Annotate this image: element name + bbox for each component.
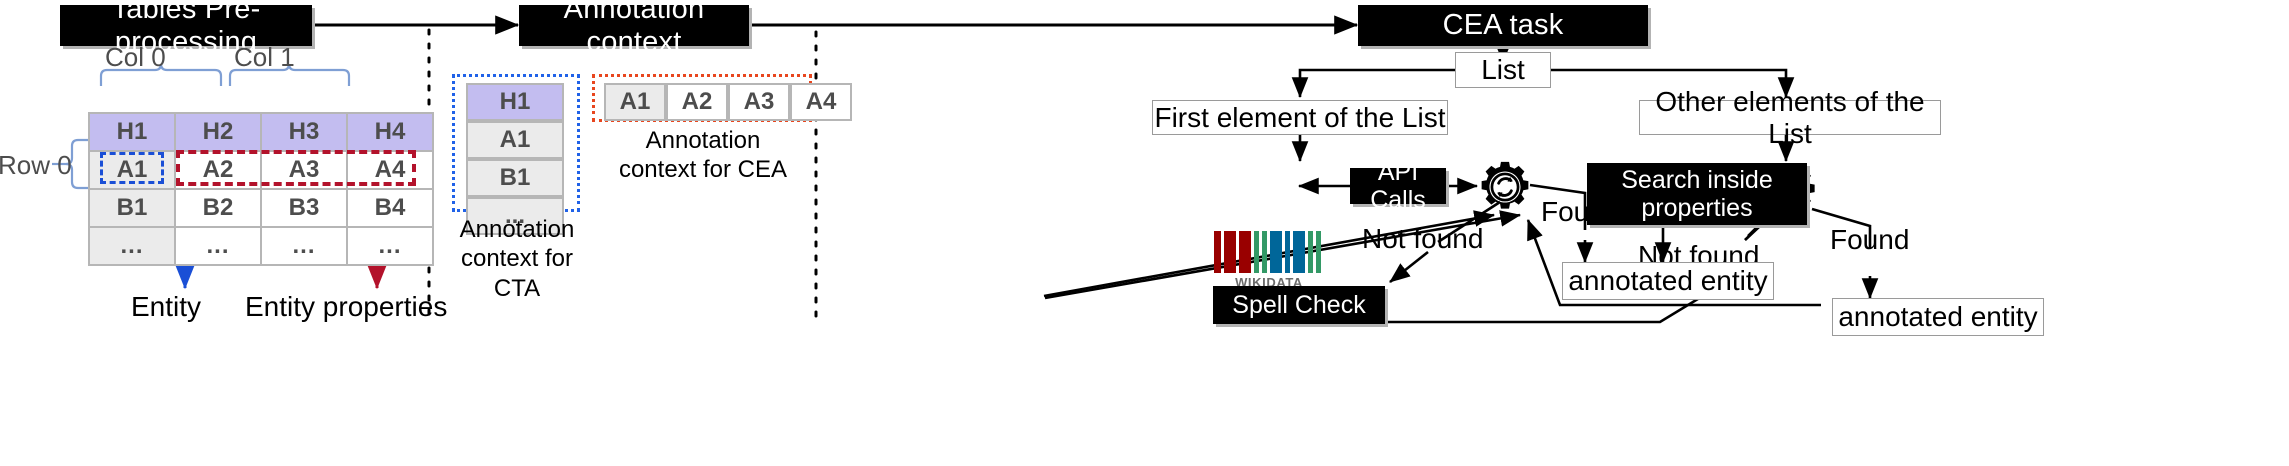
table-row: B1 B2 B3 B4 bbox=[89, 189, 433, 227]
cea-cell: A3 bbox=[728, 83, 790, 121]
col1-label: Col 1 bbox=[234, 42, 295, 73]
annotated-entity-right-label: annotated entity bbox=[1838, 301, 2037, 333]
caption-entity: Entity bbox=[131, 291, 201, 323]
cea-caption-line2: context for CEA bbox=[592, 155, 814, 184]
source-table: H1 H2 H3 H4 A1 A2 A3 A4 B1 B2 B3 B4 ... … bbox=[88, 112, 434, 266]
table-cell: ... bbox=[261, 227, 347, 265]
gear-icon bbox=[1478, 160, 1532, 214]
cea-caption-line1: Annotation bbox=[592, 126, 814, 155]
first-element-box[interactable]: First element of the List bbox=[1152, 100, 1448, 135]
cta-caption-line1: Annotation bbox=[452, 215, 582, 244]
entity-properties-highlight bbox=[176, 150, 416, 186]
label-not-found-left: Not found bbox=[1362, 223, 1483, 255]
list-box-label: List bbox=[1481, 54, 1525, 86]
cea-caption: Annotation context for CEA bbox=[592, 126, 814, 185]
spell-check-label: Spell Check bbox=[1232, 291, 1365, 319]
api-calls-label: API Calls bbox=[1351, 158, 1445, 214]
api-calls-box[interactable]: API Calls bbox=[1350, 168, 1446, 204]
banner-annotation-context: Annotation context bbox=[519, 5, 749, 46]
cta-caption: Annotation context for CTA bbox=[452, 215, 582, 303]
wikidata-bars-icon bbox=[1214, 231, 1324, 273]
banner-cea-task-label: CEA task bbox=[1443, 9, 1564, 42]
banner-tables-preprocessing: Tables Pre-processing bbox=[60, 5, 312, 46]
table-cell: ... bbox=[347, 227, 433, 265]
wikidata-logo: WIKIDATA bbox=[1214, 231, 1324, 290]
col0-label: Col 0 bbox=[105, 42, 166, 73]
cea-cell: A2 bbox=[666, 83, 728, 121]
banner-cea-task: CEA task bbox=[1358, 5, 1648, 46]
table-cell: B4 bbox=[347, 189, 433, 227]
first-element-box-label: First element of the List bbox=[1154, 102, 1445, 134]
annotated-entity-box-left[interactable]: annotated entity bbox=[1562, 262, 1774, 300]
row0-label: Row 0 bbox=[0, 150, 72, 181]
entity-cell-highlight bbox=[100, 152, 164, 184]
annotated-entity-box-right[interactable]: annotated entity bbox=[1832, 298, 2044, 336]
caption-entity-properties: Entity properties bbox=[245, 291, 447, 323]
cea-cell: A4 bbox=[790, 83, 852, 121]
table-cell: ... bbox=[89, 227, 175, 265]
cta-cell: H1 bbox=[466, 83, 564, 121]
table-header-cell: H2 bbox=[175, 113, 261, 151]
table-row: ... ... ... ... bbox=[89, 227, 433, 265]
cta-caption-line2: context for CTA bbox=[452, 244, 582, 303]
cea-context-table: A1 A2 A3 A4 bbox=[604, 83, 852, 121]
table-cell: ... bbox=[175, 227, 261, 265]
search-properties-line2: properties bbox=[1641, 194, 1752, 222]
cea-cell: A1 bbox=[604, 83, 666, 121]
other-elements-box[interactable]: Other elements of the List bbox=[1639, 100, 1941, 135]
cta-cell: A1 bbox=[466, 121, 564, 159]
annotated-entity-left-label: annotated entity bbox=[1568, 265, 1767, 297]
table-header-row: H1 H2 H3 H4 bbox=[89, 113, 433, 151]
process-gear-icon-left[interactable] bbox=[1478, 160, 1532, 214]
table-header-cell: H1 bbox=[89, 113, 175, 151]
table-cell: B3 bbox=[261, 189, 347, 227]
list-box[interactable]: List bbox=[1455, 52, 1551, 88]
banner-annotation-context-label: Annotation context bbox=[519, 0, 749, 59]
search-properties-line1: Search inside bbox=[1621, 166, 1772, 194]
search-inside-properties-box[interactable]: Search inside properties bbox=[1587, 163, 1807, 225]
table-cell: B1 bbox=[89, 189, 175, 227]
table-header-cell: H4 bbox=[347, 113, 433, 151]
cta-context-table: H1 A1 B1 ... bbox=[466, 83, 564, 235]
table-header-cell: H3 bbox=[261, 113, 347, 151]
label-found-right: Found bbox=[1830, 224, 1909, 256]
cta-cell: B1 bbox=[466, 159, 564, 197]
table-cell: B2 bbox=[175, 189, 261, 227]
spell-check-box[interactable]: Spell Check bbox=[1213, 286, 1385, 324]
other-elements-box-label: Other elements of the List bbox=[1640, 86, 1940, 150]
